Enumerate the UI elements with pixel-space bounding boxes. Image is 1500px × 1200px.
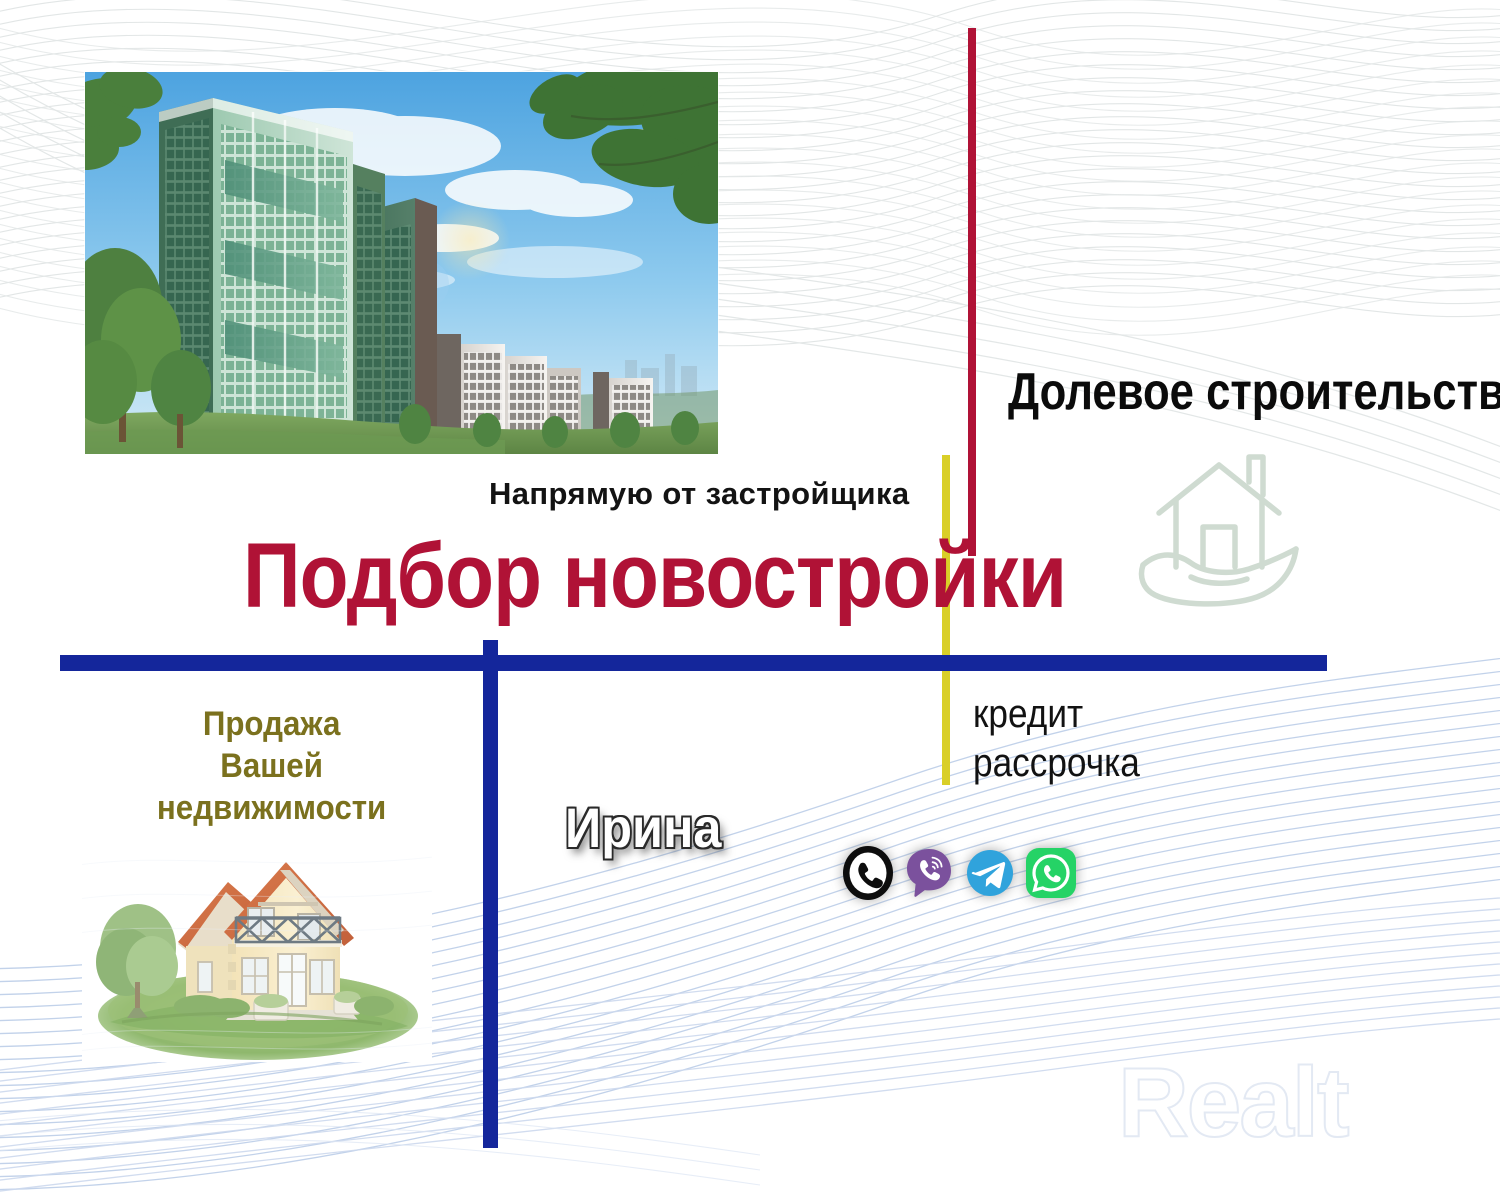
telegram-icon[interactable] — [962, 845, 1018, 901]
contact-icons-row — [840, 845, 1079, 901]
house-in-hand-icon — [1133, 445, 1305, 610]
horizontal-blue-rule — [60, 655, 1327, 671]
label-financing-options: кредит рассрочка — [973, 690, 1140, 788]
label-credit: кредит — [973, 690, 1140, 739]
vertical-blue-rule — [483, 640, 498, 1148]
agent-name: Ирина — [565, 795, 721, 860]
viber-icon[interactable] — [901, 845, 957, 901]
label-installment: рассрочка — [973, 739, 1140, 788]
new-apartment-buildings-photo — [85, 72, 718, 454]
label-sell-your-property: Продажа Вашей недвижимости — [152, 703, 391, 829]
poster-canvas: Realt — [0, 0, 1500, 1200]
kicker-direct-from-developer: Напрямую от застройщика — [489, 476, 910, 512]
whatsapp-icon[interactable] — [1023, 845, 1079, 901]
realt-watermark: Realt — [1118, 1046, 1348, 1159]
page-title: Подбор новостройки — [243, 524, 1066, 629]
phone-icon[interactable] — [840, 845, 896, 901]
vertical-crimson-rule — [968, 28, 976, 556]
heading-shared-construction: Долевое строительство — [1008, 362, 1500, 422]
private-cottage-house-photo — [82, 826, 432, 1062]
